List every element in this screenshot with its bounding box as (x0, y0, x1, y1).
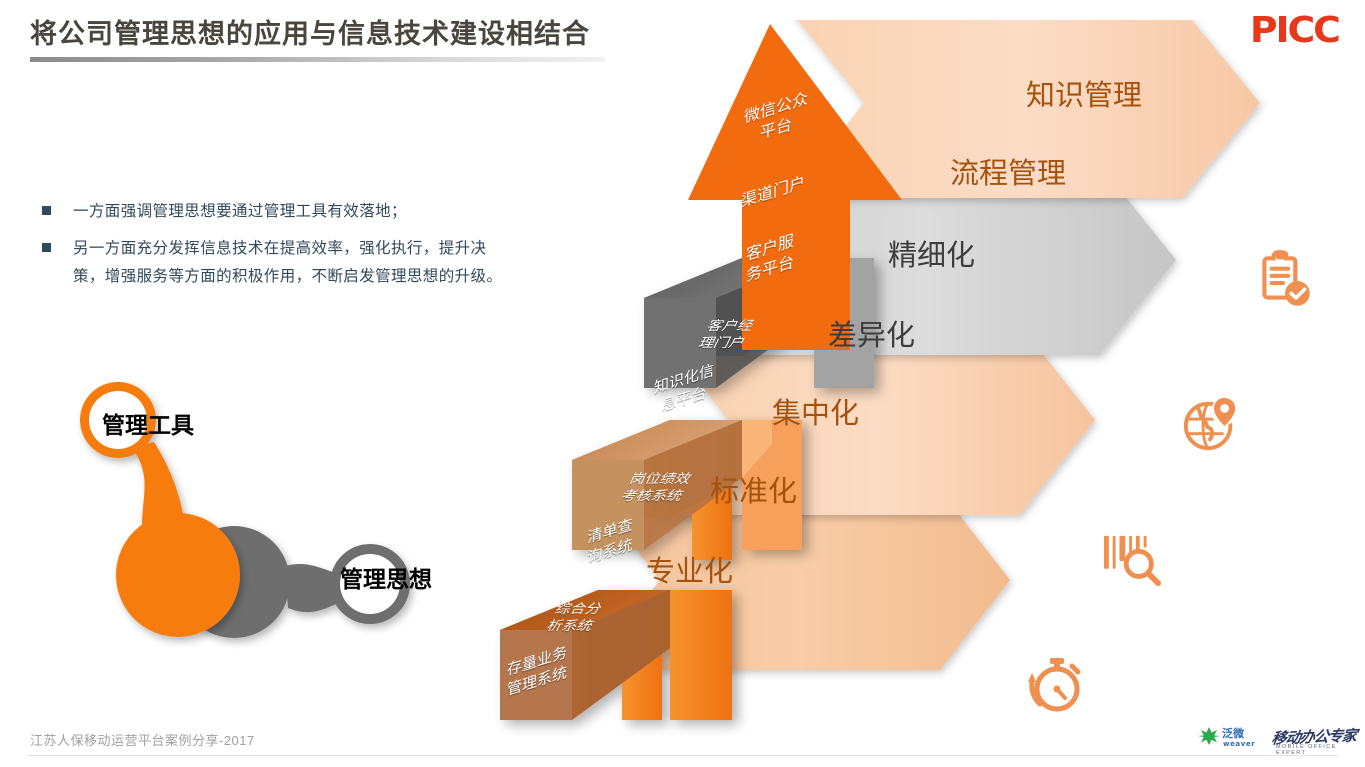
weaver-mark-icon (1198, 727, 1220, 745)
svg-text:泛微: 泛微 (1222, 726, 1245, 740)
chevron-label-refinement: 精细化 (888, 232, 975, 274)
clipboard-check-icon (1251, 248, 1317, 319)
dumbbell-label-idea: 管理思想 (340, 560, 432, 594)
chevron-label-professionalization: 专业化 (646, 548, 733, 590)
bullet-marker-icon (42, 206, 51, 215)
barcode-search-icon (1102, 532, 1164, 595)
step-top-label-performance: 岗位绩效 考核系统 (588, 471, 725, 505)
staircase-diagram: 微信公众 平台 渠道门户 客户服 务平台 客户经 理门户 知识化信 息平台 岗位… (470, 20, 1360, 740)
chevron-label-differentiation: 差异化 (828, 312, 915, 354)
bullet-marker-icon (42, 243, 51, 252)
footer-divider (28, 755, 1338, 756)
footer-note: 江苏人保移动运营平台案例分享-2017 (30, 730, 255, 749)
management-relationship-diagram: 管理工具 管理思想 (70, 370, 490, 660)
list-item: 一方面强调管理思想要通过管理工具有效落地； (42, 198, 512, 226)
step-top-label-customer-manager: 客户经 理门户 (662, 318, 791, 352)
bullet-text: 另一方面充分发挥信息技术在提高效率，强化执行，提升决策，增强服务等方面的积极作用… (73, 235, 512, 291)
chevron-label-process-management: 流程管理 (950, 150, 1066, 192)
chevron-label-centralization: 集中化 (772, 390, 859, 432)
chevron-label-knowledge-management: 知识管理 (1026, 72, 1142, 114)
bullet-text: 一方面强调管理思想要通过管理工具有效落地； (73, 198, 407, 226)
list-item: 另一方面充分发挥信息技术在提高效率，强化执行，提升决策，增强服务等方面的积极作用… (42, 235, 512, 291)
slide-root: 将公司管理思想的应用与信息技术建设相结合 PICC 一方面强调管理思想要通过管理… (0, 0, 1365, 767)
chevron-label-standardization: 标准化 (710, 468, 797, 510)
svg-text:weaver: weaver (1223, 740, 1255, 748)
mobile-office-expert-subtitle: MOBILE OFFICE EXPERT (1276, 744, 1365, 756)
dumbbell-label-tool: 管理工具 (102, 406, 194, 440)
stopwatch-icon (1022, 656, 1086, 721)
globe-pin-icon (1180, 392, 1242, 459)
weaver-logo: 泛微 weaver (1196, 725, 1268, 754)
bullet-list: 一方面强调管理思想要通过管理工具有效落地； 另一方面充分发挥信息技术在提高效率，… (42, 198, 512, 300)
step-top-label-analysis: 综合分 析系统 (516, 601, 633, 635)
